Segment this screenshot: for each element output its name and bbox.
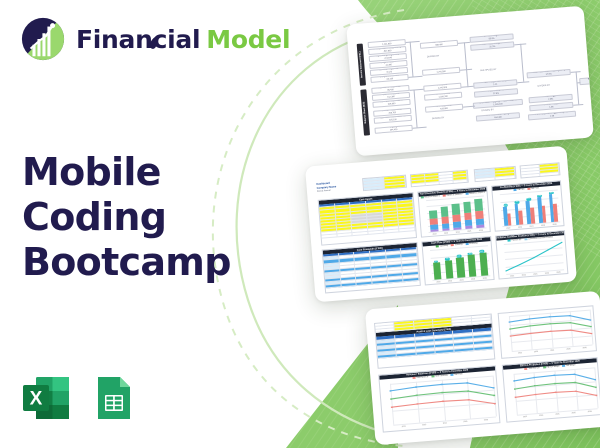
chart-x-label: 2026 [582, 410, 598, 413]
chart-bar-segment [475, 199, 483, 211]
svg-text:X: X [30, 389, 43, 410]
brand-name-primary: Financial [76, 25, 200, 54]
chart-x-label: 2025 [537, 224, 549, 227]
chart-bar [507, 213, 512, 225]
flow-node[interactable]: Total Liab + Equity = Total Assets 1,028… [473, 99, 523, 109]
chart-data-point [441, 384, 443, 386]
flow-connector-label: DIVIDED BY [432, 117, 445, 120]
flow-node[interactable]: Revenue 1,241,500 [423, 83, 461, 92]
chart-data-point [466, 382, 468, 384]
page-title-line-1: Mobile [22, 150, 272, 195]
section-band-balance-sheet: Balance Sheet (B/S) [360, 89, 370, 135]
chart-value-pill: 468 [515, 201, 520, 204]
page-title-line-2: Coding [22, 195, 272, 240]
chart-data-point [574, 382, 576, 384]
chart-x-label: 2024 [526, 225, 538, 228]
chart-data-point [533, 377, 535, 379]
chart-bar [456, 257, 465, 278]
reports-card[interactable]: Profit & Loss Summary (£'000) 20 [365, 291, 600, 445]
chart-data-point [494, 403, 496, 405]
chart-plot-area: 20222023202420252026 [504, 239, 564, 274]
chart-data-point [390, 398, 392, 400]
chart-bar-segment [477, 225, 485, 228]
chart-data-point [515, 396, 517, 398]
chart-bar-segment [440, 207, 448, 217]
page-title-line-3: Bootcamp [22, 240, 272, 285]
chart-x-label: 2026 [576, 346, 592, 349]
chart-data-point [530, 333, 532, 334]
chart-data-point [513, 380, 515, 382]
chart-x-label: 2025 [463, 230, 475, 233]
chart-bar [452, 204, 461, 230]
legend-item: Total Expenses [435, 375, 448, 378]
chart-data-point [468, 399, 470, 401]
gross-margin-chart[interactable]: 20222023202420252026 [498, 305, 597, 359]
flow-node[interactable]: Current Ratio 1.98 [529, 102, 573, 112]
chart-x-label: 2025 [560, 347, 576, 350]
chart-data-point [416, 394, 418, 396]
chart-data-point [514, 388, 516, 390]
chart-data-point [570, 322, 572, 323]
chart-x-label: 2026 [475, 229, 487, 232]
flow-node[interactable]: Return on Total Assets (ROA) 37.8% [526, 69, 570, 79]
flow-node[interactable]: Shareholders Equity 494,400 [476, 112, 520, 122]
chart-bar-segment [463, 201, 471, 213]
chart-bar-segment [465, 220, 473, 227]
chart-x-label: 2024 [452, 231, 464, 234]
chart-bar [519, 211, 524, 225]
chart-bar-segment [429, 210, 437, 219]
dashboard-meta: Period: Annual [317, 190, 331, 193]
chart-x-label: 2023 [514, 226, 526, 229]
reports-canvas: Profit & Loss Summary (£'000) 20 [365, 291, 600, 445]
chart-x-label: 2026 [549, 223, 561, 226]
page-title: Mobile Coding Bootcamp [22, 150, 272, 284]
chart-value-pill: 540 [479, 250, 484, 253]
chart-data-point [550, 331, 552, 332]
chart-x-label: 2023 [444, 280, 456, 283]
chart-data-point [415, 386, 417, 388]
chart-data-point [509, 321, 511, 322]
section-band-income-statement-label: Income Statement (P&L) [359, 51, 363, 78]
flow-node[interactable]: Net Income 388,400 [420, 40, 458, 49]
flow-connector-label: DIVIDED BY [427, 55, 440, 58]
chart-series-line [515, 389, 596, 402]
flow-node[interactable]: Equity 494,400 [374, 125, 412, 134]
assumptions-table[interactable]: Core Inputs [318, 192, 417, 246]
flow-connector-label: DIVIDED BY [481, 109, 494, 112]
flow-node[interactable]: Total Asset Turnover 1.21 [473, 79, 517, 89]
chart-bar [541, 206, 546, 223]
revenue-trend-chart[interactable]: Revenue / Expenses (£'000) — 5 Years to … [378, 365, 500, 432]
flow-node[interactable]: Total Liabilities 533,800 [425, 104, 463, 113]
chart-x-label: 2022 [502, 227, 514, 230]
chart-data-point [529, 325, 531, 326]
chart-x-label: 2022 [512, 351, 528, 354]
logo-leaf-accent-icon [147, 35, 159, 51]
section-band-income-statement: Income Statement (P&L) [357, 43, 366, 85]
chart-lines [504, 239, 564, 274]
chart-series-line [392, 397, 495, 412]
microsoft-excel-icon[interactable]: X [20, 372, 72, 424]
chart-data-point [534, 385, 536, 387]
chart-plot-area: 20222023202420252026 [390, 376, 496, 425]
chart-x-label: 2022 [506, 275, 518, 278]
chart-lines [390, 376, 496, 425]
flow-connector-label: DIVIDED BY [538, 85, 551, 88]
chart-data-point [575, 390, 577, 392]
chart-data-point [554, 375, 556, 377]
flow-node[interactable]: Net Profit Margin 31.3% [470, 41, 514, 51]
chart-data-point [441, 392, 443, 394]
kpi-strip-3[interactable] [474, 166, 517, 182]
dupont-flowchart-card[interactable]: Income Statement (P&L) Balance Sheet (B/… [346, 6, 594, 157]
chart-x-label: 2026 [476, 418, 497, 422]
kpi-strip-1[interactable] [362, 175, 407, 191]
chart-data-point [554, 383, 556, 385]
legend-item: Net Margin [566, 365, 575, 368]
chart-data-point [535, 394, 537, 396]
chart-data-point [555, 391, 557, 393]
chart-plot-area: 39020224302023470202450520255402026 [430, 245, 490, 280]
chart-bar-segment [476, 218, 484, 225]
chart-data-point [596, 395, 598, 397]
section-band-balance-sheet-label: Balance Sheet (B/S) [363, 102, 367, 124]
kpi-strip-2[interactable] [410, 170, 469, 188]
legend-item: Total Revenue [416, 376, 428, 379]
ebitda-trend-chart[interactable]: EBITDA Projection (£'000) — 5 Years to D… [502, 357, 600, 423]
flow-connector-label: MULTIPLIED BY [480, 69, 496, 72]
chart-lines [509, 310, 593, 351]
dashboard-canvas: Dashboard Company Name Period: Annual [305, 146, 577, 303]
chart-series-line [504, 242, 564, 271]
core-financials-table[interactable]: Core Financials (£'000) [322, 242, 421, 294]
chart-data-point [519, 264, 520, 265]
chart-bar-segment [453, 221, 461, 227]
chart-data-point [505, 270, 506, 271]
chart-bar-segment [430, 219, 438, 226]
chart-x-label: 2024 [434, 421, 455, 425]
chart-bar-segment [453, 214, 461, 222]
chart-data-point [390, 390, 392, 392]
legend-item: Net Profit [455, 374, 463, 377]
chart-data-point [493, 395, 495, 397]
chart-value-pill: 430 [445, 257, 450, 260]
legend-item: Operating [440, 245, 448, 248]
cash-flow-chart[interactable]: Cash Flow (£'000) — 5 Years to December … [421, 236, 494, 285]
chart-data-point [590, 326, 592, 327]
flowchart-canvas: Income Statement (P&L) Balance Sheet (B/… [346, 6, 594, 157]
chart-data-point [594, 379, 596, 381]
revenue-breakdown-chart[interactable]: Top-3 Revenue Streams (£'000) — 5 Years … [417, 186, 490, 237]
chart-data-point [595, 386, 597, 388]
legend-item: Investing [455, 244, 463, 247]
chart-x-label: 2024 [529, 273, 541, 276]
chart-bar-segment [441, 216, 449, 223]
chart-x-label: 2025 [541, 272, 553, 275]
flow-node[interactable]: Total Assets 1,028,200 [424, 92, 462, 101]
chart-data-point [510, 335, 512, 336]
chart-x-label: 2025 [565, 411, 581, 414]
chart-bar [463, 201, 473, 229]
flow-node[interactable]: ROA Turnover 37.8% [474, 88, 518, 98]
financial-dashboard-card[interactable]: Dashboard Company Name Period: Annual [305, 146, 577, 303]
chart-series-line [510, 328, 591, 340]
chart-bar [468, 255, 477, 277]
chart-value-pill: 420 [503, 204, 508, 207]
kpi-strip-4[interactable] [520, 162, 561, 178]
chart-x-label: 2023 [414, 423, 435, 427]
chart-x-label: 2023 [533, 414, 549, 417]
poster-canvas: FinancialModel Mobile Coding Bootcamp X [0, 0, 600, 448]
chart-x-label: 2026 [553, 271, 565, 274]
chart-value-pill: 470 [456, 255, 461, 258]
legend-item: Net Profit [531, 188, 539, 191]
file-format-icons: X [20, 372, 138, 424]
chart-x-label: 2022 [393, 425, 414, 429]
chart-bar [433, 262, 442, 279]
chart-data-point [533, 257, 534, 258]
chart-data-point [493, 387, 495, 389]
chart-bar-segment [442, 223, 450, 229]
chart-bar-segment [476, 210, 484, 219]
chart-x-label: 2024 [544, 349, 560, 352]
chart-x-label: 2024 [456, 279, 468, 282]
chart-bar [530, 208, 535, 224]
legend-item: EBITDA [518, 189, 525, 192]
chart-bar-segment [464, 212, 472, 220]
chart-plot-area: 20222023202420252026 [509, 310, 593, 351]
chart-bar [475, 198, 485, 228]
chart-x-label: 2023 [440, 232, 452, 235]
chart-data-point [416, 403, 418, 405]
chart-x-label: 2023 [528, 350, 544, 353]
chart-x-label: 2023 [518, 274, 530, 277]
chart-plot-area: 20222023202420252026 [426, 195, 486, 232]
brand-name-secondary: Model [206, 25, 290, 54]
chart-data-point [591, 333, 593, 334]
chart-x-label: 2026 [479, 277, 491, 280]
chart-plot-area: 42020224682023512202456020256042026 [500, 190, 560, 227]
chart-x-label: 2025 [467, 278, 479, 281]
brand-logo: FinancialModel [20, 16, 290, 62]
chart-data-point [574, 374, 576, 376]
chart-data-point [467, 390, 469, 392]
chart-bar [445, 260, 454, 279]
chart-lines [514, 367, 598, 414]
chart-bar [429, 210, 438, 232]
legend-item: Total EBITDA [528, 367, 539, 370]
chart-data-point [547, 249, 548, 250]
financial-model-circle-chart-logo [20, 16, 66, 62]
brand-name: FinancialModel [76, 25, 290, 54]
chart-bar [479, 252, 488, 276]
chart-data-point [442, 401, 444, 403]
legend-item: Position (£) [512, 239, 522, 242]
chart-plot-area: 20222023202420252026 [514, 367, 598, 414]
summary-report-table[interactable]: Profit & Loss Summary (£'000) [374, 313, 495, 368]
legend-item: Financing [469, 243, 477, 246]
flow-node[interactable]: Revenue 1,241,500 [422, 67, 460, 76]
chart-value-pill: 512 [526, 198, 531, 201]
chart-data-point [391, 406, 393, 408]
chart-x-label: 2022 [517, 415, 533, 418]
flow-node[interactable]: Financial Leverage multiplier 2.08 [528, 111, 576, 121]
chart-x-label: 2024 [549, 412, 565, 415]
chart-data-point [509, 328, 511, 329]
chart-data-point [570, 329, 572, 330]
chart-bar-segment [430, 225, 438, 230]
chart-bar-segment [452, 204, 460, 215]
chart-x-label: 2022 [429, 233, 441, 236]
chart-x-label: 2025 [455, 420, 476, 424]
cumulative-cash-chart[interactable]: Cumulative Cashflow Position (£'000) — 5… [495, 230, 568, 279]
google-sheets-icon[interactable] [86, 372, 138, 424]
profitability-chart[interactable]: Profitability (£'000) — 5 Years to Decem… [491, 180, 564, 231]
chart-data-point [569, 315, 571, 316]
chart-data-point [529, 318, 531, 319]
chart-data-point [590, 319, 592, 320]
chart-data-point [549, 316, 551, 317]
chart-data-point [549, 323, 551, 324]
chart-data-point [561, 242, 562, 243]
legend-item: EBITDA Margin [547, 366, 560, 369]
chart-x-label: 2022 [433, 281, 445, 284]
chart-series-line [390, 380, 493, 396]
chart-bar [553, 203, 558, 222]
